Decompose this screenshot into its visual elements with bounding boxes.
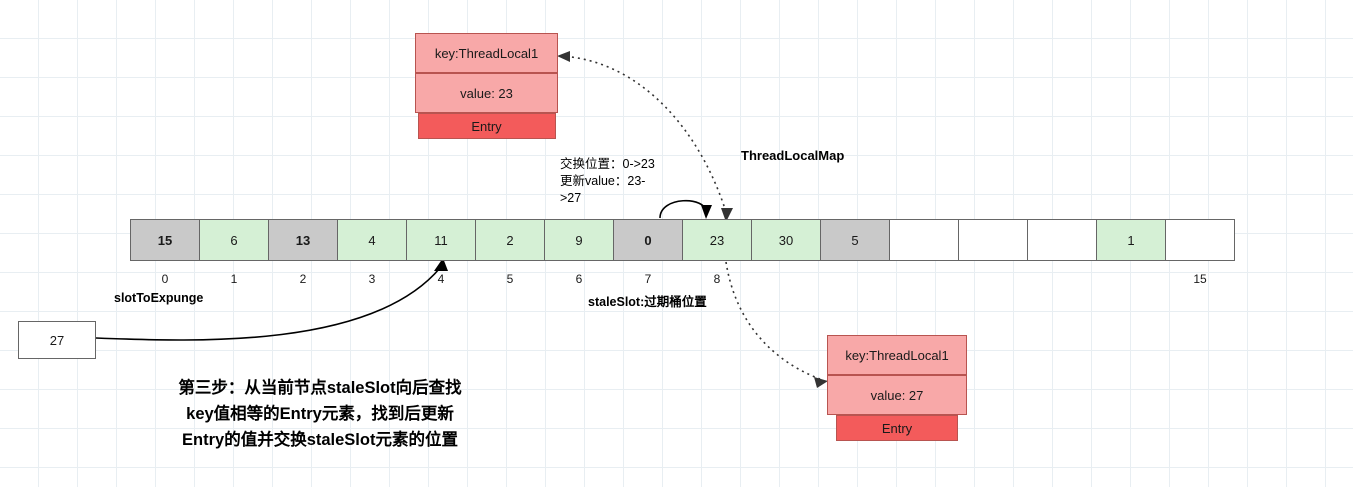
- entry-bottom-label: Entry: [836, 415, 958, 441]
- array-slot-2[interactable]: 13: [268, 219, 338, 261]
- array-slot-0[interactable]: 15: [130, 219, 200, 261]
- array-slot-3[interactable]: 4: [337, 219, 407, 261]
- swap-note-line-3: >27: [560, 190, 690, 207]
- threadlocalmap-array: 15613411290233051: [130, 219, 1235, 261]
- array-slot-10[interactable]: 5: [820, 219, 890, 261]
- threadlocalmap-label: ThreadLocalMap: [741, 148, 844, 163]
- caption-line-3: Entry的值并交换staleSlot元素的位置: [118, 427, 522, 453]
- array-index-0: 0: [145, 272, 185, 286]
- entry-top-key: key:ThreadLocal1: [415, 33, 558, 73]
- array-index-1: 1: [214, 272, 254, 286]
- entry-bottom: key:ThreadLocal1 value: 27 Entry: [827, 335, 967, 441]
- array-slot-6[interactable]: 9: [544, 219, 614, 261]
- array-slot-8[interactable]: 23: [682, 219, 752, 261]
- array-slot-13[interactable]: [1027, 219, 1097, 261]
- array-index-5: 5: [490, 272, 530, 286]
- array-slot-14[interactable]: 1: [1096, 219, 1166, 261]
- array-slot-5[interactable]: 2: [475, 219, 545, 261]
- array-slot-4[interactable]: 11: [406, 219, 476, 261]
- stale-slot-label: staleSlot:过期桶位置: [588, 291, 707, 310]
- array-slot-9[interactable]: 30: [751, 219, 821, 261]
- array-index-4: 4: [421, 272, 461, 286]
- array-slot-15[interactable]: [1165, 219, 1235, 261]
- array-slot-11[interactable]: [889, 219, 959, 261]
- swap-note: 交换位置：0->23 更新value：23- >27: [560, 156, 690, 207]
- entry-top: key:ThreadLocal1 value: 23 Entry: [415, 33, 558, 139]
- entry-bottom-key: key:ThreadLocal1: [827, 335, 967, 375]
- array-slot-7[interactable]: 0: [613, 219, 683, 261]
- caption: 第三步：从当前节点staleSlot向后查找 key值相等的Entry元素，找到…: [118, 375, 522, 453]
- caption-line-2: key值相等的Entry元素，找到后更新: [118, 401, 522, 427]
- new-value-box: 27: [18, 321, 96, 359]
- array-index-6: 6: [559, 272, 599, 286]
- array-index-7: 7: [628, 272, 668, 286]
- swap-note-line-1: 交换位置：0->23: [560, 156, 690, 173]
- swap-note-line-2: 更新value：23-: [560, 173, 690, 190]
- entry-top-value: value: 23: [415, 73, 558, 113]
- entry-top-label: Entry: [418, 113, 556, 139]
- array-index-2: 2: [283, 272, 323, 286]
- array-index-8: 8: [697, 272, 737, 286]
- caption-line-1: 第三步：从当前节点staleSlot向后查找: [118, 375, 522, 401]
- array-slot-1[interactable]: 6: [199, 219, 269, 261]
- array-index-3: 3: [352, 272, 392, 286]
- array-index-15: 15: [1180, 272, 1220, 286]
- array-slot-12[interactable]: [958, 219, 1028, 261]
- slot-to-expunge-label: slotToExpunge: [114, 291, 203, 305]
- entry-bottom-value: value: 27: [827, 375, 967, 415]
